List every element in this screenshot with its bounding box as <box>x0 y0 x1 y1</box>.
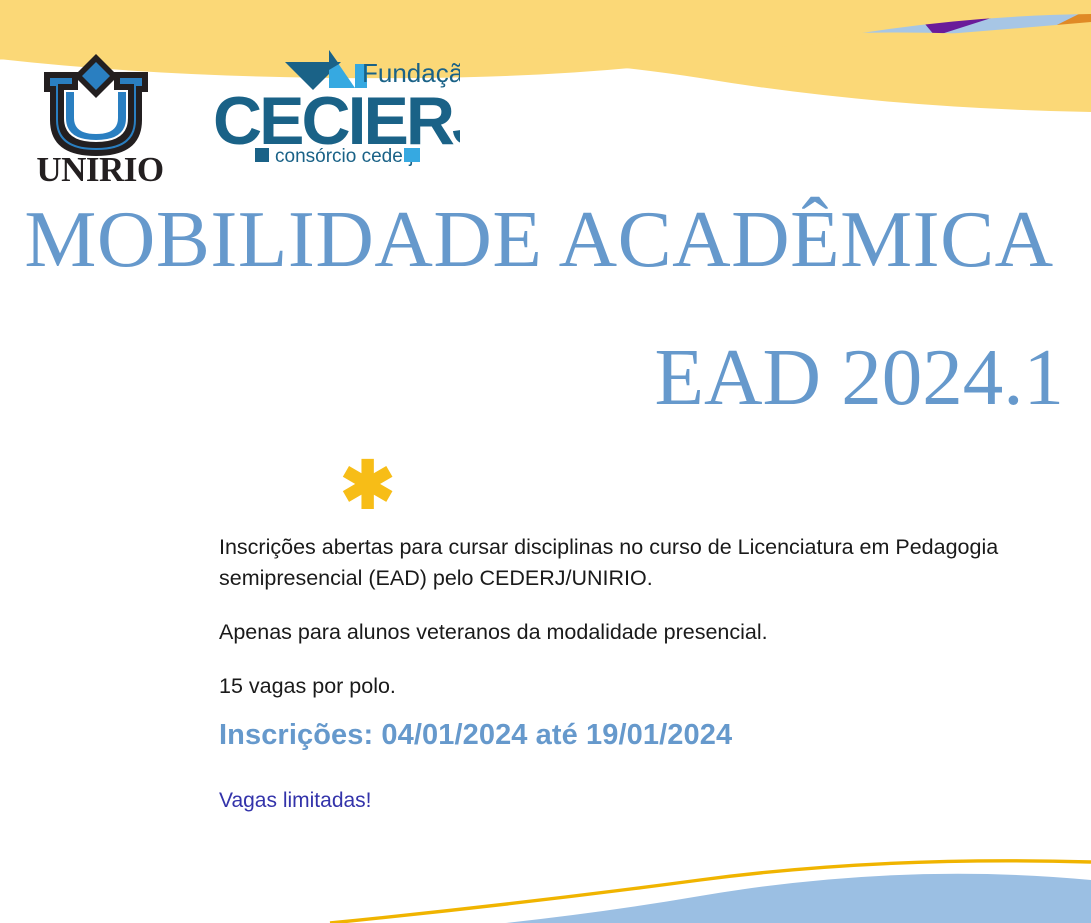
limited-seats-notice: Vagas limitadas! <box>219 789 372 813</box>
page-title: MOBILIDADE ACADÊMICA <box>0 198 1078 281</box>
pencil-purple <box>900 0 1010 36</box>
cecierj-logo: Fundação CECIERJ consórcio cederj <box>205 48 460 173</box>
pencil-orange <box>938 8 1091 102</box>
unirio-logo: UNIRIO <box>22 50 182 185</box>
page-subtitle: EAD 2024.1 <box>0 336 1078 419</box>
pencil-green <box>688 0 762 30</box>
bottom-blue-wave <box>400 874 1091 923</box>
asterisk-icon: ✱ <box>340 452 395 518</box>
body-paragraph-2: Apenas para alunos veteranos da modalida… <box>219 617 1079 648</box>
bottom-gold-line <box>330 861 1091 923</box>
logo-row: UNIRIO Fundação CECIERJ consórcio cederj <box>0 40 520 185</box>
poster-canvas: UNIRIO Fundação CECIERJ consórcio cederj… <box>0 0 1091 923</box>
unirio-wordmark: UNIRIO <box>36 150 163 185</box>
body-paragraph-1: Inscrições abertas para cursar disciplin… <box>219 532 1079 594</box>
body-paragraph-3: 15 vagas por polo. <box>219 671 1079 702</box>
title-block: MOBILIDADE ACADÊMICA EAD 2024.1 <box>0 198 1078 418</box>
enrollment-dates: Inscrições: 04/01/2024 até 19/01/2024 <box>219 719 732 752</box>
body-block: Inscrições abertas para cursar disciplin… <box>219 532 1079 702</box>
cecierj-square-left <box>255 148 269 162</box>
cecierj-square-right <box>404 148 420 162</box>
pencil-brown <box>770 0 814 8</box>
top-yellow-sweep-2 <box>470 22 1091 110</box>
pencil-yellow <box>831 0 874 6</box>
top-blue-fan <box>668 0 1091 108</box>
cecierj-tagline: consórcio cederj <box>275 146 413 167</box>
